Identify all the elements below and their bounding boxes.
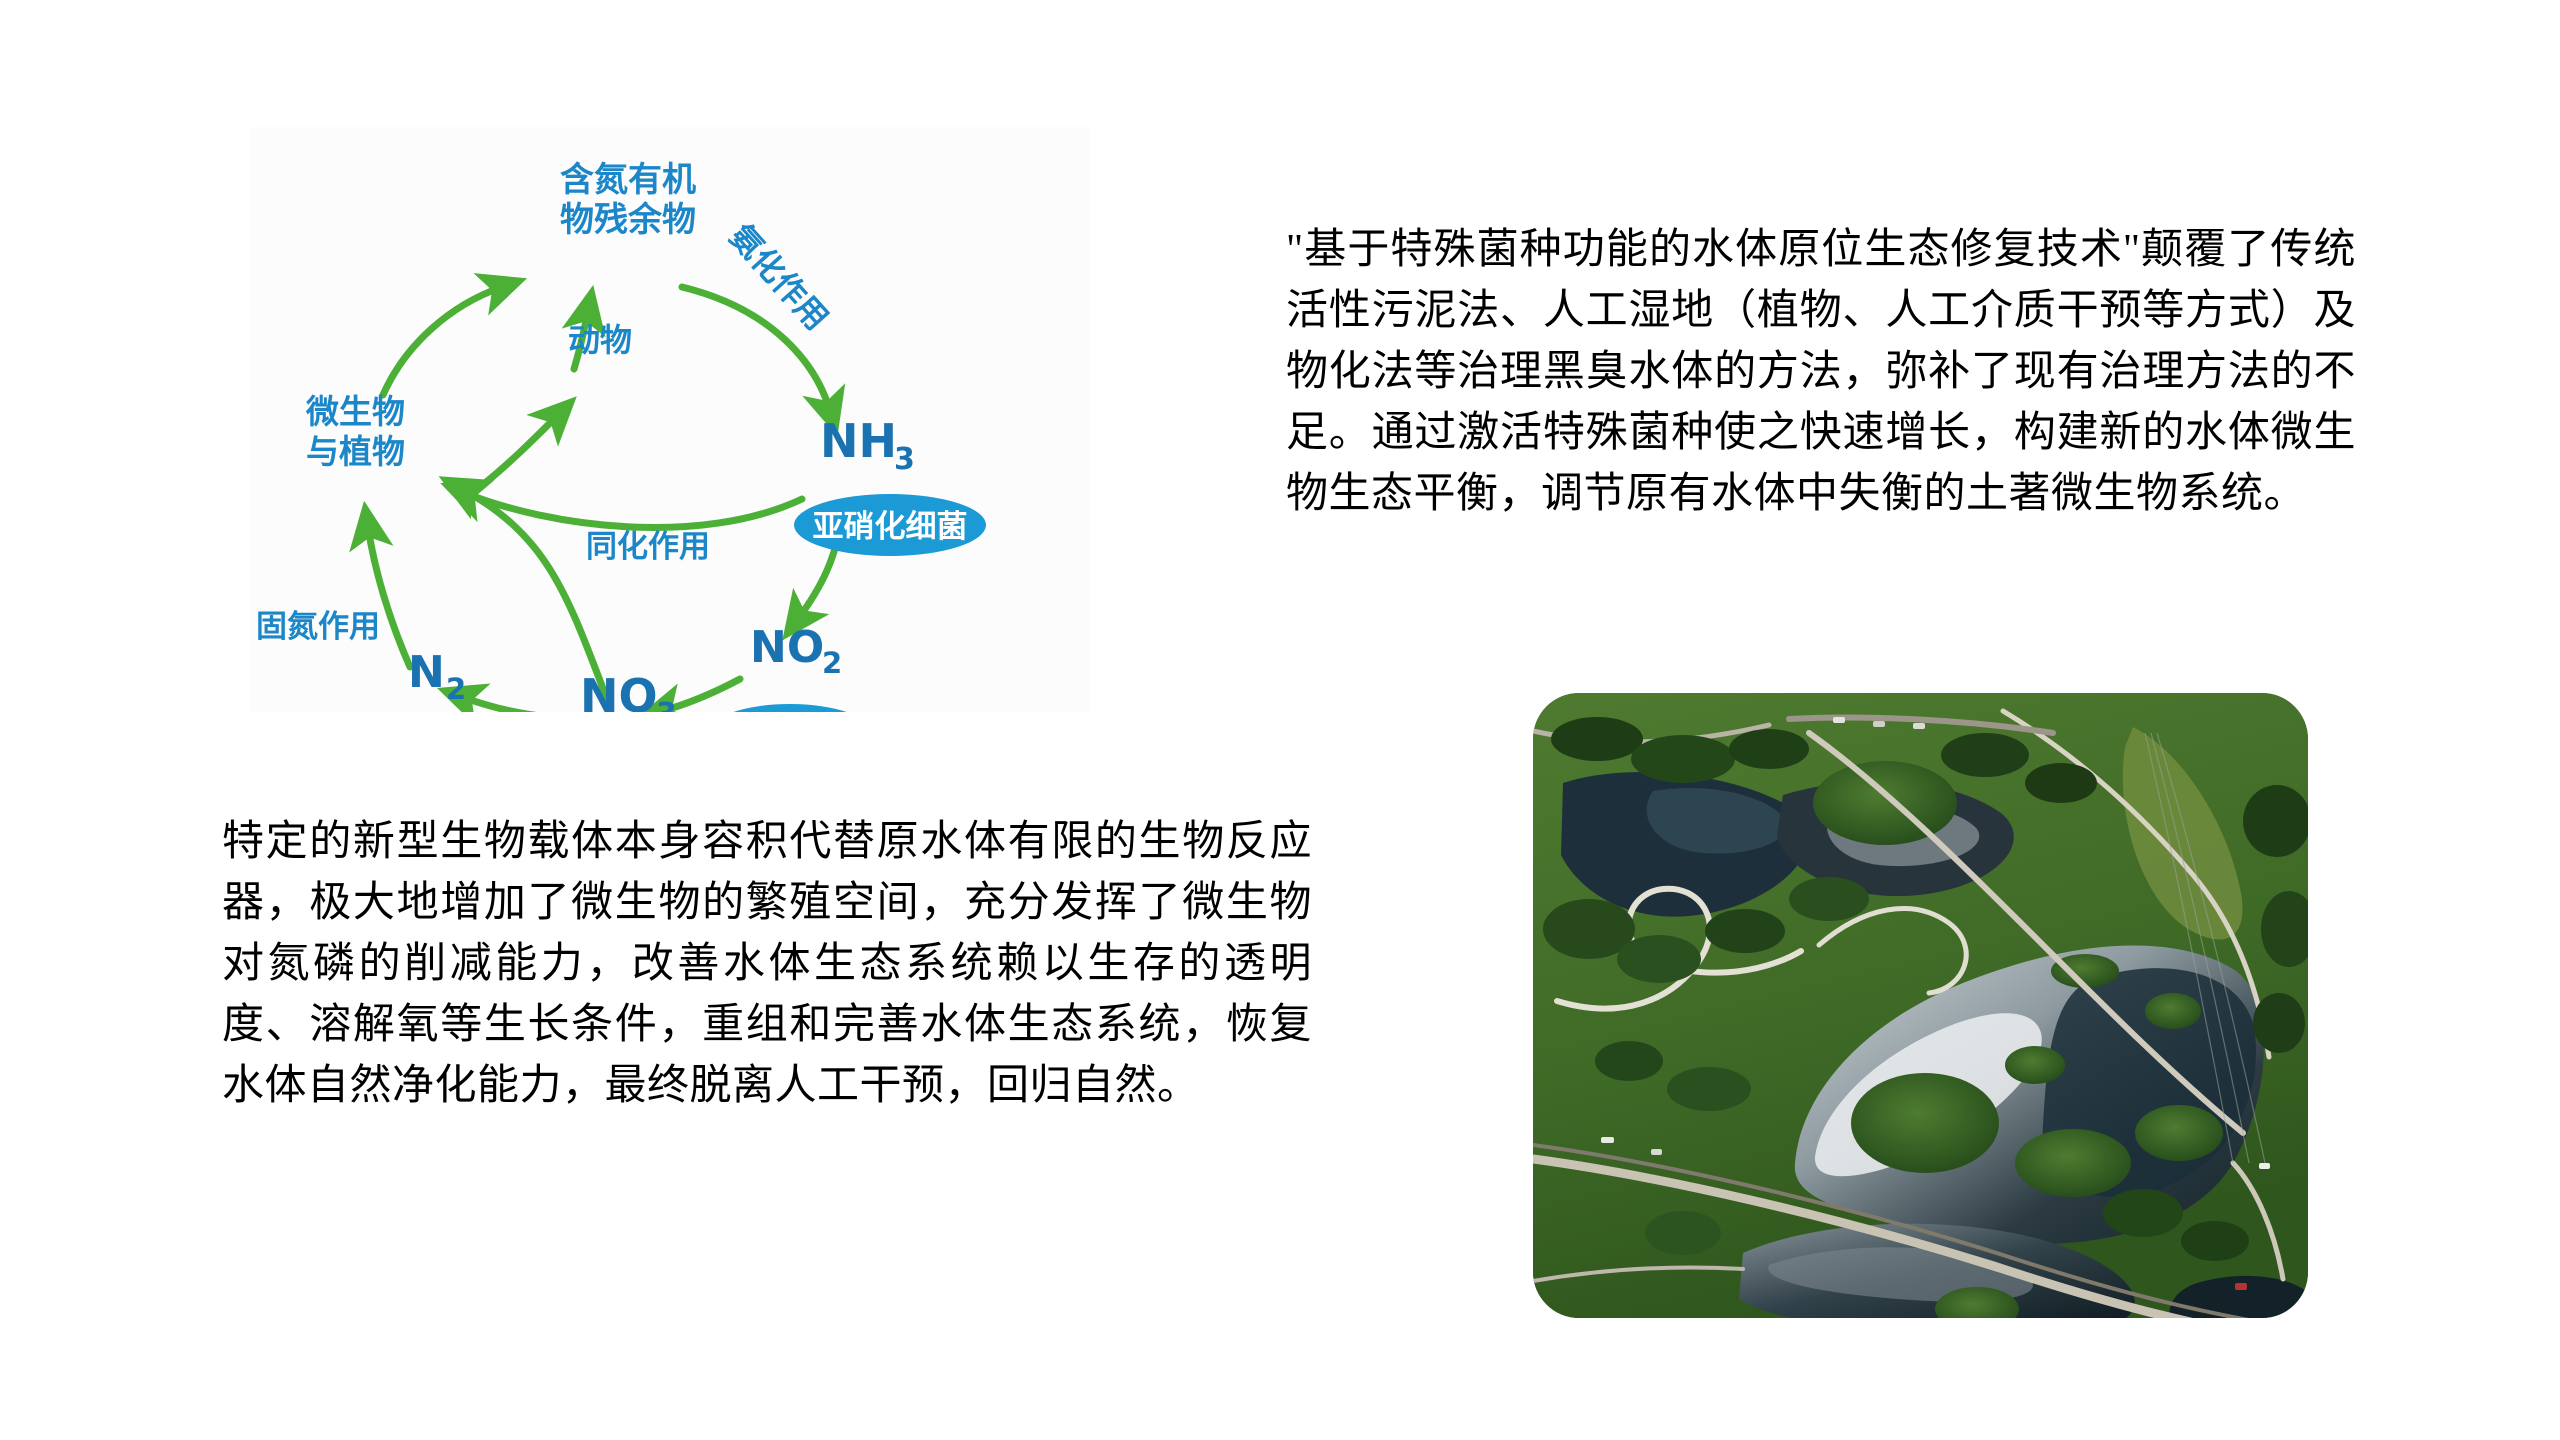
photo-island-middle [2005,1046,2065,1084]
node-label-nh3-text: NH [820,414,897,468]
node-label-no2-text: NO [750,622,824,673]
node-label-no3-sub: 3 [656,697,677,712]
paragraph-biocarrier-benefits: 特定的新型生物载体本身容积代替原水体有限的生物反应器，极大地增加了微生物的繁殖空… [222,812,1312,1117]
aerial-wetland-photo [1533,693,2308,1318]
photo-island-southeast [2135,1105,2223,1161]
nitrogen-cycle-diagram: 含氮有机 物残余物 动物 微生物 与植物 NH 3 NO 2 NO 3 N 2 … [250,127,1090,712]
node-label-nh3-sub: 3 [894,442,915,477]
node-label-microbes-line1: 微生物 [305,392,405,431]
node-label-no3-text: NO [580,669,658,712]
node-label-n2-text: N [408,647,445,698]
node-label-no2-sub: 2 [822,646,842,680]
node-label-microbes-line2: 与植物 [306,432,405,471]
photo-island-central [1851,1073,1999,1173]
pill-label-nitrosifying: 亚硝化细菌 [813,509,968,545]
paragraph-technology-overview: "基于特殊菌种功能的水体原位生态修复技术"颠覆了传统活性污泥法、人工湿地（植物、… [1286,220,2356,525]
aerial-wetland-svg [1533,693,2308,1318]
bacteria-pill-nitrosifying: 亚硝化细菌 [794,494,986,556]
process-label-assimilation: 同化作用 [586,529,710,565]
node-label-organic-line1: 含氮有机 [560,160,696,200]
photo-island-northeast [2145,993,2201,1029]
node-label-n2-sub: 2 [446,672,466,706]
process-label-nitrogen-fixation: 固氮作用 [256,609,380,645]
node-label-animals: 动物 [568,321,632,359]
node-label-organic-line2: 物残余物 [560,200,696,240]
photo-wooded-island-top [1813,761,1957,845]
nitrogen-cycle-svg: 含氮有机 物残余物 动物 微生物 与植物 NH 3 NO 2 NO 3 N 2 … [250,127,1090,712]
photo-island-south [2015,1129,2131,1197]
